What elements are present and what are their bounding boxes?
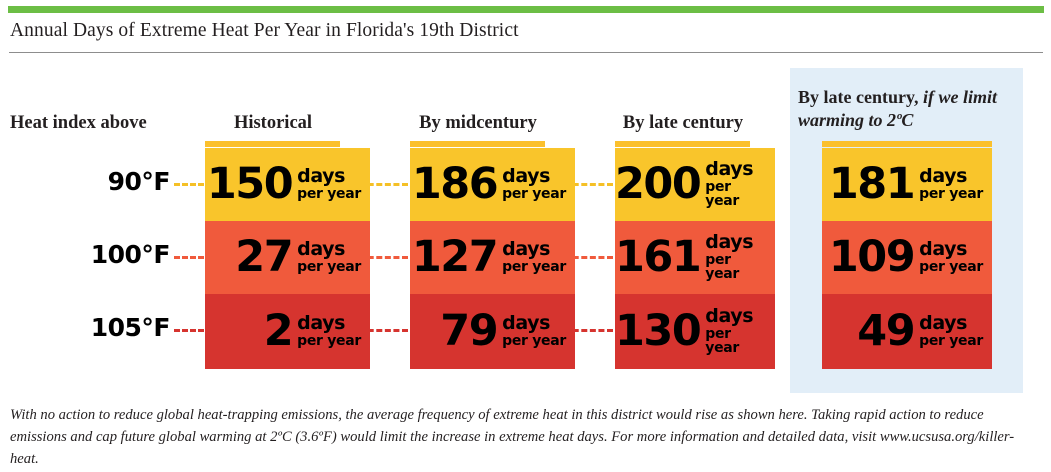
data-cell-historical-90f: 150 days per year [205,148,370,221]
data-cell-midcentury-90f: 186 days per year [410,148,575,221]
column-header-historical: Historical [198,112,348,135]
column-header-midcentury: By midcentury [403,112,553,135]
unit-days: days [705,307,766,327]
unit-label: days per year [705,233,766,282]
column-header-lead: By late century, [798,87,918,107]
unit-per-year: per year [705,253,766,282]
data-cell-late-century-105f: 130 days per year [615,294,775,369]
unit-per-year: per year [297,334,361,349]
unit-per-year: per year [502,334,566,349]
header-bar-historical [205,141,340,147]
data-cell-late-century-100f: 161 days per year [615,221,775,294]
unit-per-year: per year [502,187,566,202]
unit-per-year: per year [919,260,983,275]
unit-days: days [297,167,361,187]
unit-label: days per year [297,240,361,275]
unit-label: days per year [919,314,983,349]
data-cell-late-century-2c-105f: 49 days per year [822,294,992,369]
unit-days: days [502,314,566,334]
connector-dash-100f-left [174,256,204,259]
unit-days: days [919,314,983,334]
unit-label: days per year [919,240,983,275]
data-cell-historical-105f: 2 days per year [205,294,370,369]
unit-per-year: per year [705,180,766,209]
unit-per-year: per year [919,334,983,349]
row-label-100f: 100°F [10,240,170,269]
connector-dash-105f-left [174,329,204,332]
infographic-root: Annual Days of Extreme Heat Per Year in … [0,0,1051,472]
unit-label: days per year [502,314,566,349]
value-historical-100f: 27 [235,236,292,279]
unit-per-year: per year [502,260,566,275]
data-cell-late-century-90f: 200 days per year [615,148,775,221]
value-late-century-105f: 130 [615,310,700,353]
data-cell-midcentury-100f: 127 days per year [410,221,575,294]
unit-label: days per year [919,167,983,202]
unit-days: days [919,167,983,187]
top-accent-rule [8,6,1044,13]
value-late-century-100f: 161 [615,236,700,279]
unit-label: days per year [705,307,766,356]
value-historical-105f: 2 [264,310,292,353]
unit-days: days [502,167,566,187]
unit-label: days per year [297,167,361,202]
unit-per-year: per year [705,327,766,356]
unit-days: days [919,240,983,260]
unit-days: days [297,240,361,260]
value-late-century-2c-90f: 181 [829,163,914,206]
unit-days: days [705,233,766,253]
value-late-century-2c-105f: 49 [857,310,914,353]
unit-label: days per year [502,240,566,275]
title-divider [9,52,1043,53]
row-label-header: Heat index above [10,112,200,135]
unit-per-year: per year [297,187,361,202]
row-label-105f: 105°F [10,313,170,342]
unit-per-year: per year [919,187,983,202]
data-cell-midcentury-105f: 79 days per year [410,294,575,369]
header-bar-late-century-2c [822,141,992,147]
page-title: Annual Days of Extreme Heat Per Year in … [10,20,1030,42]
column-header-late-century-2c: By late century, if we limit warming to … [798,86,1016,133]
data-cell-late-century-2c-90f: 181 days per year [822,148,992,221]
data-cell-historical-100f: 27 days per year [205,221,370,294]
unit-days: days [705,160,766,180]
row-label-90f: 90°F [10,167,170,196]
unit-label: days per year [502,167,566,202]
value-historical-90f: 150 [207,163,292,206]
header-bar-late-century [615,141,750,147]
unit-days: days [297,314,361,334]
column-header-late-century: By late century [608,112,758,135]
value-late-century-2c-100f: 109 [829,236,914,279]
value-midcentury-105f: 79 [440,310,497,353]
header-bar-midcentury [410,141,545,147]
value-midcentury-100f: 127 [412,236,497,279]
connector-dash-90f-left [174,183,204,186]
footnote-text: With no action to reduce global heat-tra… [10,404,1038,471]
value-midcentury-90f: 186 [412,163,497,206]
unit-label: days per year [705,160,766,209]
value-late-century-90f: 200 [615,163,700,206]
unit-days: days [502,240,566,260]
unit-per-year: per year [297,260,361,275]
unit-label: days per year [297,314,361,349]
data-cell-late-century-2c-100f: 109 days per year [822,221,992,294]
